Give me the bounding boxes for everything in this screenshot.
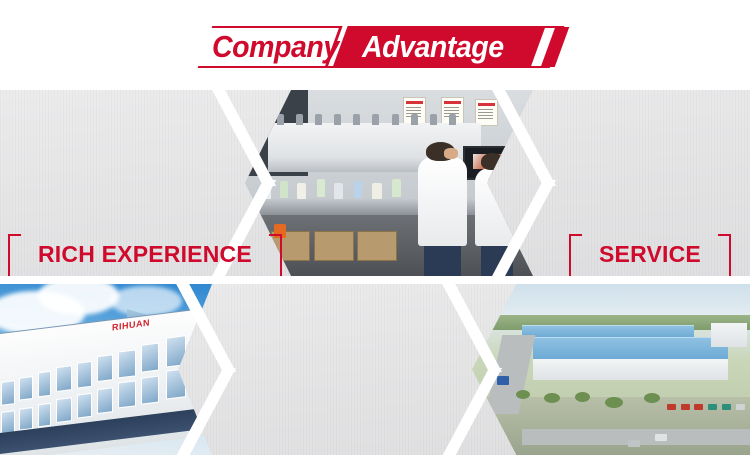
lab-storage-cubby: [357, 231, 396, 261]
bottom-row: RIHUAN: [0, 284, 750, 455]
panel-service: SERVICE 24 hours online service and nati…: [552, 234, 748, 276]
lab-technician-pants: [424, 246, 461, 276]
banner-red-sliver: [541, 27, 570, 67]
service-bracket: SERVICE: [569, 234, 731, 274]
lab-notice-sign: [475, 99, 498, 126]
banner-rule-bottom: [198, 66, 551, 68]
rich-experience-bracket: RICH EXPERIENCE: [8, 234, 282, 274]
banner-title-company: Company: [212, 27, 339, 66]
header-banner-graphic: Company Advantage: [195, 26, 565, 68]
top-row: RICH EXPERIENCE More than 30 years manuf…: [0, 90, 750, 276]
aerial-bus: [497, 376, 509, 385]
service-headline: SERVICE: [595, 234, 705, 274]
factory-aerial-view-photo: [472, 284, 750, 455]
rich-experience-headline: RICH EXPERIENCE: [34, 234, 256, 274]
company-advantage-banner: Company Advantage: [0, 0, 750, 455]
header-banner: Company Advantage: [0, 0, 750, 90]
panel-rich-experience: RICH EXPERIENCE More than 30 years manuf…: [8, 234, 256, 276]
lab-technician-face: [444, 148, 458, 159]
banner-title-advantage: Advantage: [362, 27, 504, 66]
lab-storage-cubby: [314, 231, 353, 261]
lab-technician-coat: [418, 157, 467, 246]
lab-technician-pants: [481, 246, 513, 276]
